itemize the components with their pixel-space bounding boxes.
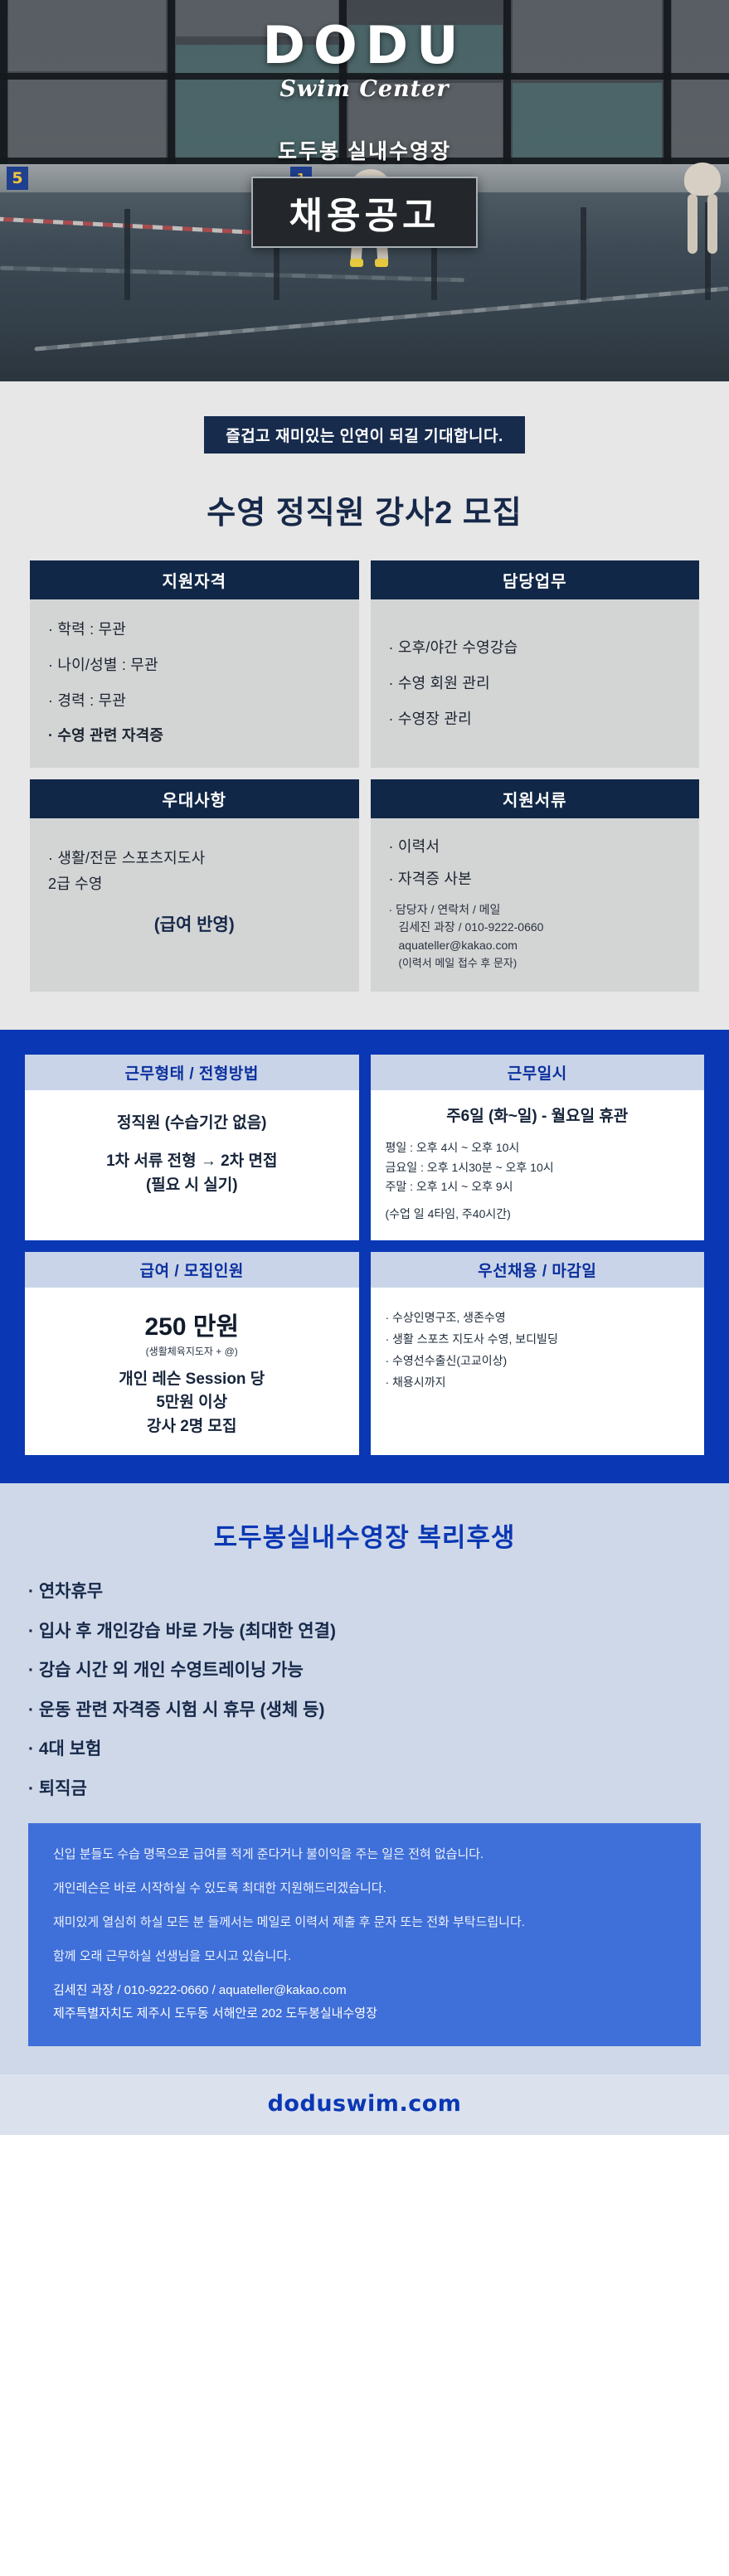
list-item: · 생활/전문 스포츠지도사 [48,847,341,871]
salary-amount: 250 만원 [40,1306,344,1342]
work-conditions-section: 근무형태 / 전형방법 정직원 (수습기간 없음) 1차 서류 전형 → 2차 … [0,1030,729,1483]
preference-highlight: (급여 반영) [48,911,341,936]
list-item: · 4대 보험 [28,1736,701,1763]
contact-label: · 담당자 / 연락처 / 메일 [389,901,682,919]
list-item: · 수영선수출신(고교이상) [386,1351,690,1372]
schedule-row: 금요일 : 오후 1시30분 ~ 오후 10시 [386,1158,690,1177]
hero-section: 5 1 DODU Swim Center [0,0,729,381]
qualification-section: 즐겁고 재미있는 인연이 되길 기대합니다. 수영 정직원 강사2 모집 지원자… [0,381,729,1030]
card-preference: 우대사항 · 생활/전문 스포츠지도사 2급 수영 (급여 반영) [30,779,359,992]
contact-email: aquateller@kakao.com [389,937,682,955]
list-item: · 수영장 관리 [389,707,682,731]
lane-rope [0,266,464,283]
list-item: · 연차휴무 [28,1579,701,1605]
brand-logo: DODU [0,20,729,71]
facility-name: 도두봉 실내수영장 [0,135,729,165]
benefits-title: 도두봉실내수영장 복리후생 [28,1516,701,1554]
card-duties: 담당업무 · 오후/야간 수영강습 · 수영 회원 관리 · 수영장 관리 [371,560,700,768]
schedule-row: 평일 : 오후 4시 ~ 오후 10시 [386,1138,690,1157]
card-employment-type: 근무형태 / 전형방법 정직원 (수습기간 없음) 1차 서류 전형 → 2차 … [25,1055,359,1240]
note-paragraph: 개인레슨은 바로 시작하실 수 있도록 최대한 지원해드리겠습니다. [53,1879,676,1899]
salary-line-3: 강사 2명 모집 [40,1415,344,1439]
closing-note-box: 신입 분들도 수습 명목으로 급여를 적게 준다거나 불이익을 주는 일은 전혀… [28,1823,701,2046]
footer-address: 제주특별자치도 제주시 도두동 서해안로 202 도두봉실내수영장 [53,2004,676,2023]
card-salary: 급여 / 모집인원 250 만원 (생활체육지도자 + @) 개인 레슨 Ses… [25,1252,359,1456]
list-item-highlight: · 수영 관련 자격증 [48,724,341,748]
card-priority-hiring: 우선채용 / 마감일 · 수상인명구조, 생존수영 · 생활 스포츠 지도사 수… [371,1252,705,1456]
note-paragraph: 재미있게 열심히 하실 모든 분 들께서는 메일로 이력서 제출 후 문자 또는… [53,1913,676,1933]
employment-line-3: (필요 시 실기) [40,1174,344,1198]
website-url[interactable]: doduswim.com [268,2091,462,2117]
info-card-grid-top: 지원자격 · 학력 : 무관 · 나이/성별 : 무관 · 경력 : 무관 · … [30,560,699,768]
card-employment-type-title: 근무형태 / 전형방법 [25,1055,359,1090]
note-paragraph: 신입 분들도 수습 명목으로 급여를 적게 준다거나 불이익을 주는 일은 전혀… [53,1845,676,1865]
list-item: · 자격증 사본 [389,867,682,891]
conditions-grid-bottom: 급여 / 모집인원 250 만원 (생활체육지도자 + @) 개인 레슨 Ses… [25,1252,704,1456]
list-item: · 생활 스포츠 지도사 수영, 보디빌딩 [386,1329,690,1351]
footer-contact: 김세진 과장 / 010-9222-0660 / aquateller@kaka… [53,1981,676,2000]
poster-root: 5 1 DODU Swim Center [0,0,729,2135]
list-item: · 학력 : 무관 [48,618,341,642]
employment-line-2: 1차 서류 전형 → 2차 면접 [40,1150,344,1174]
card-documents: 지원서류 · 이력서 · 자격증 사본 · 담당자 / 연락처 / 메일 김세진… [371,779,700,992]
list-item: · 운동 관련 자격증 시험 시 휴무 (생체 등) [28,1697,701,1724]
employment-line-1: 정직원 (수습기간 없음) [40,1112,344,1136]
card-schedule-title: 근무일시 [371,1055,705,1090]
footer-bar: doduswim.com [0,2074,729,2135]
list-item: · 퇴직금 [28,1776,701,1802]
schedule-note: (수업 일 4타임, 주40시간) [386,1205,690,1224]
benefits-list: · 연차휴무 · 입사 후 개인강습 바로 가능 (최대한 연결) · 강습 시… [28,1579,701,1802]
schedule-row: 주말 : 오후 1시 ~ 오후 9시 [386,1177,690,1196]
card-duties-title: 담당업무 [371,560,700,599]
salary-line-1: 개인 레슨 Session 당 [40,1368,344,1392]
salary-amount-note: (생활체육지도자 + @) [40,1344,344,1358]
tagline-banner: 즐겁고 재미있는 인연이 되길 기대합니다. [204,416,525,454]
schedule-headline: 주6일 (화~일) - 월요일 휴관 [386,1105,690,1129]
card-preference-title: 우대사항 [30,779,359,818]
list-item: · 채용시까지 [386,1372,690,1394]
card-priority-hiring-title: 우선채용 / 마감일 [371,1252,705,1288]
list-item: · 오후/야간 수영강습 [389,636,682,660]
list-item: · 이력서 [389,835,682,859]
salary-line-2: 5만원 이상 [40,1391,344,1415]
list-item: · 입사 후 개인강습 바로 가능 (최대한 연결) [28,1618,701,1645]
list-item: · 경력 : 무관 [48,689,341,713]
list-item: · 강습 시간 외 개인 수영트레이닝 가능 [28,1657,701,1684]
note-paragraph: 함께 오래 근무하실 선생님을 모시고 있습니다. [53,1947,676,1967]
job-title: 수영 정직원 강사2 모집 [30,487,699,532]
brand-logo-subtitle: Swim Center [0,76,729,102]
list-item: · 나이/성별 : 무관 [48,653,341,677]
contact-person: 김세진 과장 / 010-9222-0660 [389,919,682,937]
list-item: · 수영 회원 관리 [389,672,682,696]
conditions-grid-top: 근무형태 / 전형방법 정직원 (수습기간 없음) 1차 서류 전형 → 2차 … [25,1055,704,1240]
card-qualification-title: 지원자격 [30,560,359,599]
list-item: · 수상인명구조, 생존수영 [386,1307,690,1329]
recruitment-badge: 채용공고 [251,177,479,248]
lane-rope [34,286,728,351]
benefits-section: 도두봉실내수영장 복리후생 · 연차휴무 · 입사 후 개인강습 바로 가능 (… [0,1483,729,2074]
card-schedule: 근무일시 주6일 (화~일) - 월요일 휴관 평일 : 오후 4시 ~ 오후 … [371,1055,705,1240]
contact-note: (이력서 메일 접수 후 문자) [389,955,682,972]
list-item: 2급 수영 [48,872,341,896]
card-qualification: 지원자격 · 학력 : 무관 · 나이/성별 : 무관 · 경력 : 무관 · … [30,560,359,768]
card-documents-title: 지원서류 [371,779,700,818]
info-card-grid-bottom: 우대사항 · 생활/전문 스포츠지도사 2급 수영 (급여 반영) 지원서류 ·… [30,779,699,992]
card-salary-title: 급여 / 모집인원 [25,1252,359,1288]
